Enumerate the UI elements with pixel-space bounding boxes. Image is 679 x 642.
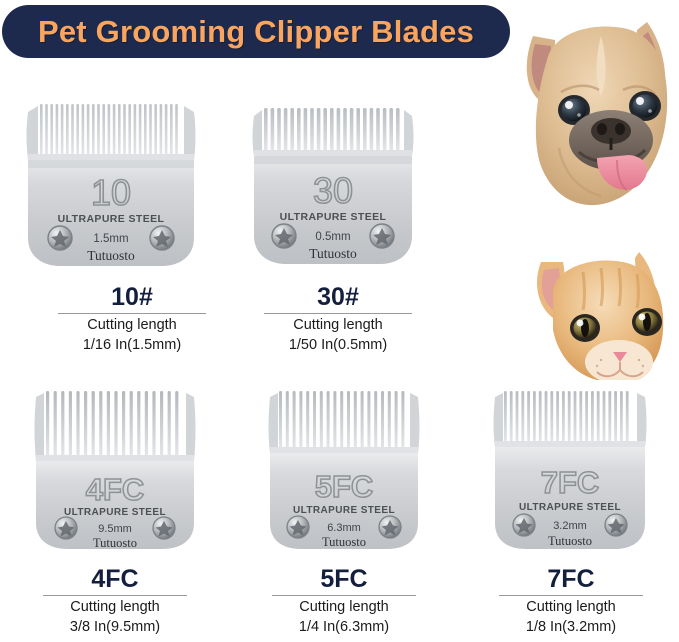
spec-label-10: Cutting length [58, 316, 206, 335]
blade-card-7fc: 7FC ULTRAPURE STEEL 3.2mm Tutuosto [490, 385, 650, 553]
blade-image-10: 10 ULTRAPURE STEEL 1.5mm Tutuosto [22, 98, 200, 270]
blade-screw-right-4fc [153, 517, 175, 539]
spec-value-7fc: 1/8 In(3.2mm) [499, 618, 643, 637]
blade-brand-5fc: Tutuosto [322, 535, 366, 549]
blade-material-10: ULTRAPURE STEEL [58, 213, 165, 225]
spec-label-30: Cutting length [264, 316, 412, 335]
spec-value-5fc: 1/4 In(6.3mm) [272, 618, 416, 637]
spec-divider [272, 595, 416, 596]
blade-screw-right-30 [370, 224, 394, 248]
blade-image-5fc: 5FC ULTRAPURE STEEL 6.3mm Tutuosto [265, 385, 423, 553]
spec-value-30: 1/50 In(0.5mm) [264, 336, 412, 355]
spec-label-4fc: Cutting length [43, 598, 187, 617]
blade-engraved-number-4fc: 4FC [86, 472, 145, 507]
spec-label-7fc: Cutting length [499, 598, 643, 617]
spec-block-10: 10# Cutting length 1/16 In(1.5mm) [58, 284, 206, 355]
blade-material-5fc: ULTRAPURE STEEL [293, 505, 395, 516]
dog-illustration [527, 22, 667, 205]
blade-material-7fc: ULTRAPURE STEEL [519, 502, 621, 513]
spec-code-30: 30# [264, 284, 412, 310]
blade-brand-10: Tutuosto [87, 248, 135, 263]
pets-photo [497, 0, 679, 380]
blade-image-4fc: 4FC ULTRAPURE STEEL 9.5mm Tutuosto [30, 385, 200, 553]
blade-brand-4fc: Tutuosto [93, 536, 137, 550]
spec-label-5fc: Cutting length [272, 598, 416, 617]
blade-mm-30: 0.5mm [315, 231, 350, 243]
header-banner: Pet Grooming Clipper Blades [2, 5, 510, 58]
blade-screw-right-7fc [605, 514, 627, 536]
blade-brand-7fc: Tutuosto [548, 534, 592, 548]
blade-engraved-number-7fc: 7FC [541, 465, 600, 500]
blade-image-30: 30 ULTRAPURE STEEL 0.5mm Tutuosto [248, 100, 418, 268]
spec-code-7fc: 7FC [499, 566, 643, 592]
blade-brand-30: Tutuosto [309, 246, 357, 261]
spec-divider [264, 313, 412, 314]
spec-divider [58, 313, 206, 314]
blade-material-30: ULTRAPURE STEEL [280, 211, 387, 223]
spec-value-10: 1/16 In(1.5mm) [58, 336, 206, 355]
spec-value-4fc: 3/8 In(9.5mm) [43, 618, 187, 637]
page-title: Pet Grooming Clipper Blades [38, 14, 474, 50]
product-infographic: Pet Grooming Clipper Blades [0, 0, 679, 642]
blade-screw-left-30 [272, 224, 296, 248]
spec-block-7fc: 7FC Cutting length 1/8 In(3.2mm) [499, 566, 643, 637]
blade-material-4fc: ULTRAPURE STEEL [64, 507, 166, 518]
cat-illustration [537, 252, 663, 380]
spec-divider [499, 595, 643, 596]
blade-card-10: 10 ULTRAPURE STEEL 1.5mm Tutuosto [22, 98, 200, 270]
blade-mm-10: 1.5mm [93, 233, 128, 245]
blade-screw-left-10 [48, 226, 72, 250]
blade-image-7fc: 7FC ULTRAPURE STEEL 3.2mm Tutuosto [490, 385, 650, 553]
spec-block-30: 30# Cutting length 1/50 In(0.5mm) [264, 284, 412, 355]
blade-card-4fc: 4FC ULTRAPURE STEEL 9.5mm Tutuosto [30, 385, 200, 553]
blade-engraved-number-10: 10 [91, 172, 131, 213]
blade-mm-5fc: 6.3mm [327, 522, 361, 534]
blade-card-5fc: 5FC ULTRAPURE STEEL 6.3mm Tutuosto [265, 385, 423, 553]
blade-engraved-number-30: 30 [313, 170, 353, 211]
spec-divider [43, 595, 187, 596]
blade-mm-4fc: 9.5mm [98, 523, 132, 535]
blade-screw-left-7fc [513, 514, 535, 536]
blade-mm-7fc: 3.2mm [553, 520, 587, 532]
spec-code-5fc: 5FC [272, 566, 416, 592]
spec-code-4fc: 4FC [43, 566, 187, 592]
blade-engraved-number-5fc: 5FC [315, 469, 374, 504]
blade-screw-left-4fc [55, 517, 77, 539]
spec-block-4fc: 4FC Cutting length 3/8 In(9.5mm) [43, 566, 187, 637]
blade-screw-left-5fc [287, 516, 309, 538]
spec-code-10: 10# [58, 284, 206, 310]
spec-block-5fc: 5FC Cutting length 1/4 In(6.3mm) [272, 566, 416, 637]
blade-screw-right-5fc [379, 516, 401, 538]
blade-card-30: 30 ULTRAPURE STEEL 0.5mm Tutuosto [248, 100, 418, 268]
blade-screw-right-10 [150, 226, 174, 250]
